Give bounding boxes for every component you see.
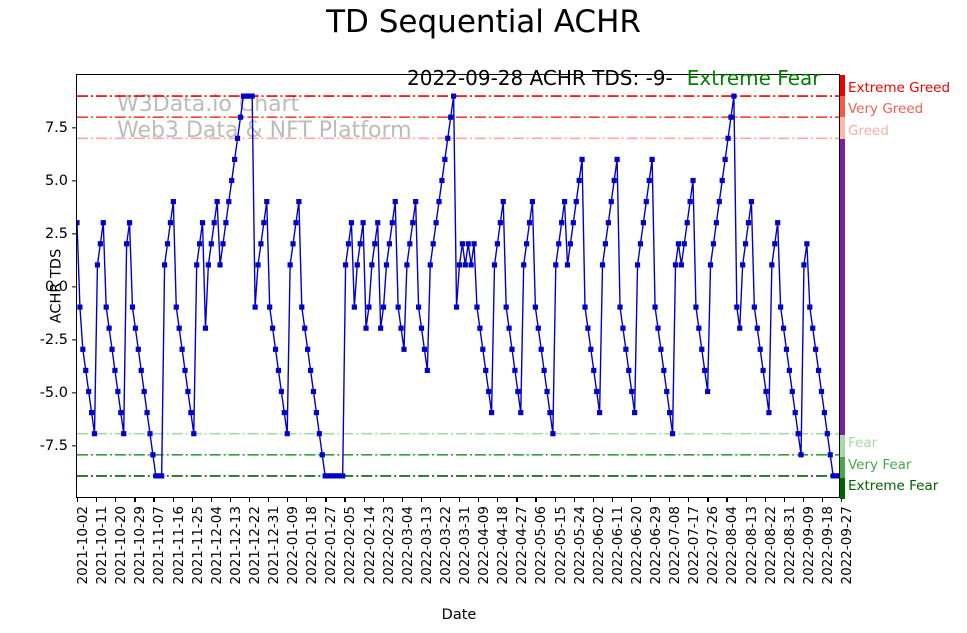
data-point — [448, 115, 453, 120]
data-point — [641, 220, 646, 225]
data-point — [647, 178, 652, 183]
data-point — [769, 262, 774, 267]
y-tick-label: 7.5 — [45, 120, 68, 136]
x-tick-label: 2022-02-14 — [362, 506, 378, 584]
data-point — [828, 452, 833, 457]
data-point — [407, 241, 412, 246]
data-point — [445, 136, 450, 141]
data-point — [477, 326, 482, 331]
data-point — [763, 389, 768, 394]
edge-bar-extreme-greed — [840, 75, 845, 96]
data-point — [261, 220, 266, 225]
edge-bar-neutral — [840, 139, 845, 436]
x-tick-label: 2022-09-09 — [801, 506, 817, 584]
zone-label-extreme-fear: Extreme Fear — [848, 478, 938, 494]
data-point — [720, 178, 725, 183]
data-point — [562, 199, 567, 204]
data-point — [801, 262, 806, 267]
data-point — [533, 305, 538, 310]
data-point — [361, 220, 366, 225]
data-point — [579, 157, 584, 162]
data-point — [398, 326, 403, 331]
x-tick-label: 2022-03-04 — [400, 506, 416, 584]
x-tick-mark — [535, 497, 536, 502]
data-point — [793, 410, 798, 415]
data-point — [688, 199, 693, 204]
data-point — [760, 368, 765, 373]
data-point — [396, 305, 401, 310]
x-tick-mark — [459, 497, 460, 502]
x-tick-label: 2022-02-23 — [381, 506, 397, 584]
x-tick-mark — [211, 497, 212, 502]
data-point — [524, 241, 529, 246]
data-point — [489, 410, 494, 415]
edge-bar-very-fear — [840, 457, 845, 478]
data-point — [822, 410, 827, 415]
data-point — [355, 262, 360, 267]
data-point — [597, 410, 602, 415]
data-point — [273, 347, 278, 352]
data-point — [798, 452, 803, 457]
data-point — [317, 431, 322, 436]
data-point — [813, 347, 818, 352]
data-point — [725, 136, 730, 141]
x-tick-label: 2021-10-29 — [132, 506, 148, 584]
x-tick-mark — [344, 497, 345, 502]
data-point — [667, 410, 672, 415]
data-point — [696, 326, 701, 331]
data-point — [182, 368, 187, 373]
data-point — [693, 305, 698, 310]
data-point — [486, 389, 491, 394]
data-point — [384, 262, 389, 267]
data-point — [238, 115, 243, 120]
x-tick-mark — [96, 497, 97, 502]
data-point — [390, 220, 395, 225]
x-tick-label: 2022-09-18 — [820, 506, 836, 584]
x-tick-label: 2022-05-06 — [533, 506, 549, 584]
data-point — [442, 157, 447, 162]
data-point — [104, 305, 109, 310]
data-point — [147, 431, 152, 436]
plot-area: ACHR TDS -7.5-5.0-2.50.02.55.07.5 2021-1… — [76, 74, 840, 498]
x-tick-mark — [173, 497, 174, 502]
x-tick-mark — [650, 497, 651, 502]
data-point — [436, 199, 441, 204]
data-point — [755, 326, 760, 331]
data-point — [591, 368, 596, 373]
data-point — [664, 389, 669, 394]
data-point — [626, 368, 631, 373]
x-tick-label: 2022-03-31 — [457, 506, 473, 584]
data-point — [620, 326, 625, 331]
zone-label-greed: Greed — [848, 123, 889, 139]
data-point — [250, 94, 255, 99]
data-point — [521, 262, 526, 267]
data-point — [723, 157, 728, 162]
data-point — [565, 262, 570, 267]
data-point — [617, 305, 622, 310]
data-point — [413, 199, 418, 204]
data-point — [705, 389, 710, 394]
data-point — [515, 389, 520, 394]
data-point — [288, 262, 293, 267]
data-point — [556, 241, 561, 246]
data-point — [191, 431, 196, 436]
x-tick-label: 2021-11-16 — [171, 506, 187, 584]
data-point — [501, 199, 506, 204]
x-tick-mark — [574, 497, 575, 502]
data-point — [518, 410, 523, 415]
data-point — [615, 157, 620, 162]
data-point — [118, 410, 123, 415]
data-point — [810, 326, 815, 331]
data-point — [492, 262, 497, 267]
data-point — [425, 368, 430, 373]
x-tick-label: 2022-08-04 — [724, 506, 740, 584]
data-point — [296, 199, 301, 204]
data-point — [142, 389, 147, 394]
data-point — [255, 262, 260, 267]
data-point — [512, 368, 517, 373]
data-point — [585, 326, 590, 331]
data-point — [381, 305, 386, 310]
data-point — [588, 347, 593, 352]
data-point — [200, 220, 205, 225]
x-tick-mark — [383, 497, 384, 502]
data-point — [270, 326, 275, 331]
x-tick-mark — [688, 497, 689, 502]
data-point — [109, 347, 114, 352]
data-point — [101, 220, 106, 225]
data-point — [89, 410, 94, 415]
x-tick-mark — [364, 497, 365, 502]
x-tick-label: 2021-12-13 — [228, 506, 244, 584]
x-tick-label: 2022-01-18 — [304, 506, 320, 584]
data-point — [422, 347, 427, 352]
data-point — [708, 262, 713, 267]
data-point — [115, 389, 120, 394]
data-point — [431, 241, 436, 246]
x-tick-mark — [822, 497, 823, 502]
x-tick-mark — [497, 497, 498, 502]
data-point — [778, 305, 783, 310]
x-tick-label: 2022-05-15 — [553, 506, 569, 584]
data-point — [220, 241, 225, 246]
data-point — [825, 431, 830, 436]
data-point — [285, 431, 290, 436]
data-point — [740, 262, 745, 267]
data-point — [77, 220, 80, 225]
data-point — [673, 262, 678, 267]
data-point — [539, 347, 544, 352]
zone-label-fear: Fear — [848, 435, 877, 451]
data-point — [293, 220, 298, 225]
series-line — [77, 96, 839, 476]
data-point — [393, 199, 398, 204]
x-tick-mark — [593, 497, 594, 502]
data-point — [819, 389, 824, 394]
data-point — [483, 368, 488, 373]
data-point — [699, 347, 704, 352]
data-point — [466, 241, 471, 246]
x-tick-mark — [115, 497, 116, 502]
x-tick-label: 2022-08-31 — [782, 506, 798, 584]
data-point — [343, 262, 348, 267]
edge-bar-very-greed — [840, 96, 845, 117]
data-point — [542, 368, 547, 373]
data-point — [559, 220, 564, 225]
data-point — [174, 305, 179, 310]
data-point — [469, 262, 474, 267]
data-point — [358, 241, 363, 246]
data-point — [544, 389, 549, 394]
data-point — [632, 410, 637, 415]
y-tick-label: 2.5 — [45, 226, 68, 242]
data-point — [311, 389, 316, 394]
data-point — [279, 389, 284, 394]
x-tick-mark — [707, 497, 708, 502]
x-tick-label: 2022-03-22 — [438, 506, 454, 584]
x-tick-mark — [516, 497, 517, 502]
x-tick-label: 2022-07-08 — [667, 506, 683, 584]
data-point — [807, 305, 812, 310]
data-point — [83, 368, 88, 373]
data-point — [474, 305, 479, 310]
x-tick-label: 2022-04-27 — [514, 506, 530, 584]
data-point — [121, 431, 126, 436]
x-tick-mark — [153, 497, 154, 502]
data-point — [346, 241, 351, 246]
data-point — [194, 262, 199, 267]
data-point — [299, 305, 304, 310]
data-point — [804, 241, 809, 246]
x-tick-mark — [726, 497, 727, 502]
data-point — [223, 220, 228, 225]
series-svg — [77, 75, 839, 497]
data-point — [670, 431, 675, 436]
edge-bar-extreme-fear — [840, 478, 845, 499]
data-point — [463, 262, 468, 267]
data-point — [790, 389, 795, 394]
x-tick-label: 2021-11-25 — [190, 506, 206, 584]
data-point — [676, 241, 681, 246]
x-tick-mark — [478, 497, 479, 502]
data-point — [162, 262, 167, 267]
data-point — [302, 326, 307, 331]
data-point — [130, 305, 135, 310]
y-tick-label: 5.0 — [45, 173, 68, 189]
data-point — [92, 431, 97, 436]
x-tick-label: 2022-06-20 — [629, 506, 645, 584]
data-point — [209, 241, 214, 246]
data-point — [480, 347, 485, 352]
data-point — [629, 389, 634, 394]
data-point — [743, 241, 748, 246]
data-point — [419, 326, 424, 331]
data-point — [606, 220, 611, 225]
data-point — [320, 452, 325, 457]
data-point — [717, 199, 722, 204]
data-point — [369, 262, 374, 267]
x-tick-label: 2021-10-02 — [75, 506, 91, 584]
data-point — [679, 262, 684, 267]
data-point — [252, 305, 257, 310]
data-point — [749, 199, 754, 204]
x-tick-mark — [287, 497, 288, 502]
data-point — [460, 241, 465, 246]
data-point — [527, 220, 532, 225]
data-point — [226, 199, 231, 204]
data-point — [197, 241, 202, 246]
data-point — [124, 241, 129, 246]
data-point — [165, 241, 170, 246]
x-tick-mark — [555, 497, 556, 502]
data-point — [349, 220, 354, 225]
data-point — [609, 199, 614, 204]
data-point — [495, 241, 500, 246]
data-point — [180, 347, 185, 352]
data-point — [77, 305, 82, 310]
zone-label-very-fear: Very Fear — [848, 457, 911, 473]
data-point — [177, 326, 182, 331]
x-tick-label: 2021-10-20 — [113, 506, 129, 584]
data-point — [375, 220, 380, 225]
data-point — [258, 241, 263, 246]
x-tick-label: 2021-11-07 — [151, 506, 167, 584]
data-point — [439, 178, 444, 183]
data-point — [471, 241, 476, 246]
x-tick-label: 2022-06-11 — [610, 506, 626, 584]
data-point — [711, 241, 716, 246]
data-point — [404, 262, 409, 267]
data-point — [836, 473, 839, 478]
data-point — [340, 473, 345, 478]
data-point — [571, 220, 576, 225]
x-tick-label: 2022-05-24 — [572, 506, 588, 584]
data-point — [737, 326, 742, 331]
data-point — [434, 220, 439, 225]
data-point — [507, 326, 512, 331]
x-tick-label: 2022-04-18 — [495, 506, 511, 584]
data-point — [363, 326, 368, 331]
x-tick-mark — [192, 497, 193, 502]
data-point — [498, 220, 503, 225]
data-point — [682, 241, 687, 246]
data-point — [547, 410, 552, 415]
x-tick-mark — [249, 497, 250, 502]
x-tick-label: 2022-07-26 — [705, 506, 721, 584]
y-tick-label: -2.5 — [40, 332, 68, 348]
data-point — [171, 199, 176, 204]
data-point — [685, 220, 690, 225]
x-tick-mark — [803, 497, 804, 502]
data-point — [550, 431, 555, 436]
data-point — [136, 347, 141, 352]
data-point — [644, 199, 649, 204]
data-point — [305, 347, 310, 352]
data-point — [410, 220, 415, 225]
x-tick-label: 2022-07-17 — [686, 506, 702, 584]
data-point — [661, 368, 666, 373]
x-tick-label: 2022-08-22 — [763, 506, 779, 584]
data-point — [387, 241, 392, 246]
data-point — [159, 473, 164, 478]
x-tick-label: 2022-06-02 — [591, 506, 607, 584]
x-tick-mark — [230, 497, 231, 502]
x-tick-mark — [325, 497, 326, 502]
x-tick-label: 2022-03-13 — [419, 506, 435, 584]
data-point — [150, 452, 155, 457]
x-tick-mark — [669, 497, 670, 502]
x-tick-mark — [421, 497, 422, 502]
data-point — [139, 368, 144, 373]
data-point — [217, 262, 222, 267]
data-point — [650, 157, 655, 162]
data-point — [655, 326, 660, 331]
data-point — [212, 220, 217, 225]
x-tick-label: 2022-01-27 — [323, 506, 339, 584]
data-point — [215, 199, 220, 204]
data-point — [568, 241, 573, 246]
data-point — [203, 326, 208, 331]
edge-bar-greed — [840, 117, 845, 138]
x-axis-label: Date — [77, 607, 841, 623]
x-tick-mark — [402, 497, 403, 502]
data-point — [612, 178, 617, 183]
data-point — [276, 368, 281, 373]
x-tick-mark — [134, 497, 135, 502]
data-point — [107, 326, 112, 331]
chart-container: TD Sequential ACHR ACHR TDS -7.5-5.0-2.5… — [0, 0, 967, 633]
y-tick-label: -5.0 — [40, 385, 68, 401]
data-point — [416, 305, 421, 310]
data-point — [133, 326, 138, 331]
data-point — [401, 347, 406, 352]
x-tick-mark — [268, 497, 269, 502]
data-point — [752, 305, 757, 310]
data-point — [372, 241, 377, 246]
data-point — [206, 262, 211, 267]
data-point — [603, 241, 608, 246]
data-point — [731, 94, 736, 99]
data-point — [690, 178, 695, 183]
x-tick-mark — [631, 497, 632, 502]
data-point — [264, 199, 269, 204]
data-point — [235, 136, 240, 141]
data-point — [787, 368, 792, 373]
data-point — [282, 410, 287, 415]
data-point — [728, 115, 733, 120]
x-tick-label: 2022-08-13 — [744, 506, 760, 584]
x-tick-label: 2022-06-29 — [648, 506, 664, 584]
data-point — [457, 262, 462, 267]
data-point — [658, 347, 663, 352]
x-tick-label: 2022-09-27 — [839, 506, 855, 584]
data-point — [530, 199, 535, 204]
data-point — [623, 347, 628, 352]
data-point — [95, 262, 100, 267]
y-tick-label: 0.0 — [45, 279, 68, 295]
data-point — [784, 347, 789, 352]
page-title: TD Sequential ACHR — [0, 4, 967, 40]
x-tick-mark — [440, 497, 441, 502]
x-tick-mark — [784, 497, 785, 502]
data-point — [577, 178, 582, 183]
data-point — [504, 305, 509, 310]
data-point — [290, 241, 295, 246]
data-point — [188, 410, 193, 415]
